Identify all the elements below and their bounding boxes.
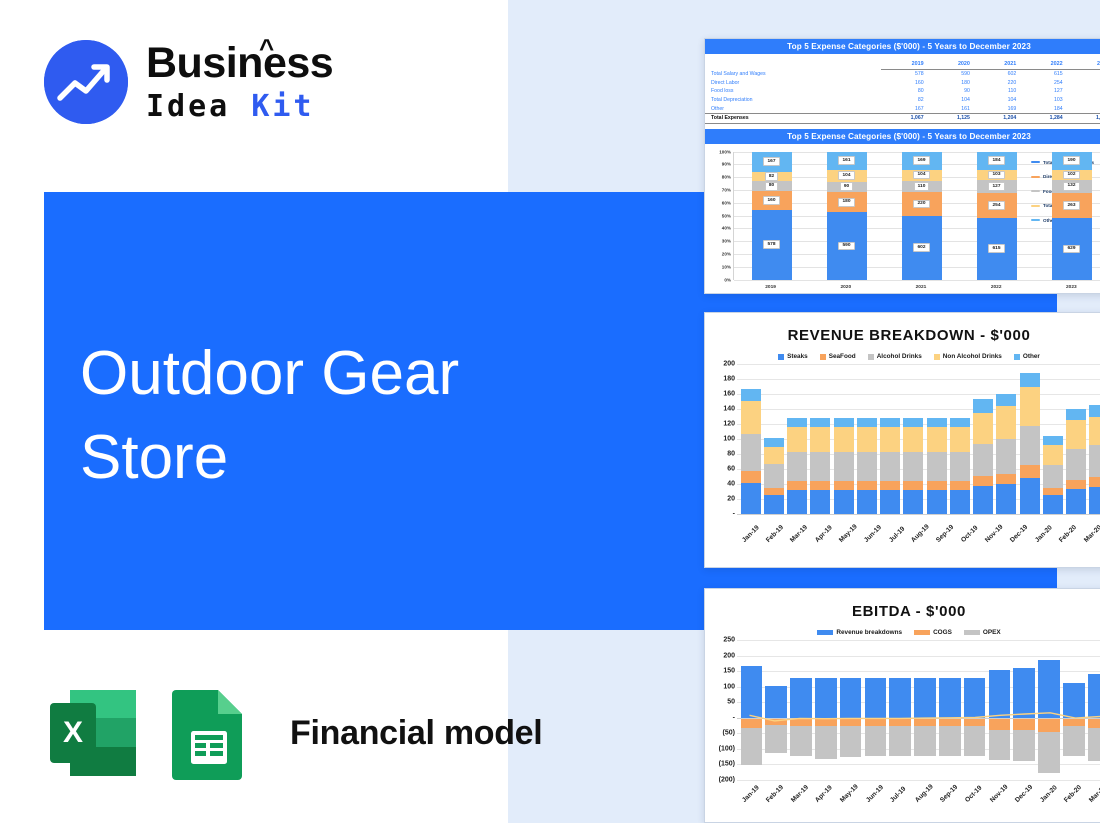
row-label: Total Depreciation	[705, 96, 881, 105]
x-tick: Jun-19	[863, 524, 883, 544]
y-tick: 50%	[722, 213, 731, 218]
chart-plot-area	[737, 364, 1100, 514]
y-tick: 50	[727, 699, 735, 706]
y-tick: 20	[727, 496, 735, 503]
ebitda-chart-plot: 25020015010050-(50)(100)(150)(200)	[705, 640, 1100, 780]
bar-segment	[880, 418, 900, 427]
table-total-row: Total Expenses 1,067 1,125 1,204 1,284 1…	[705, 113, 1100, 123]
x-tick: 2023	[1066, 285, 1077, 290]
bar-segment	[950, 418, 970, 427]
bar-segment	[996, 439, 1016, 474]
bar-segment	[787, 490, 807, 514]
bar-column	[973, 364, 993, 514]
table-row: Total Salary and Wages 578 590 602 615 6…	[705, 70, 1100, 79]
bar-segment	[1043, 465, 1063, 488]
cell: 161	[928, 104, 974, 113]
y-tick: 100	[723, 683, 735, 690]
svg-text:X: X	[63, 716, 83, 749]
ebitda-chart-title: EBITDA - $'000	[705, 603, 1100, 620]
chart-x-axis: 20192020202120222023	[733, 285, 1100, 290]
chart-y-axis: 25020015010050-(50)(100)(150)(200)	[711, 640, 737, 780]
bar-segment	[903, 418, 923, 427]
bar-segment: 103	[977, 170, 1017, 180]
bar-segment	[1020, 426, 1040, 466]
bar-segment	[973, 399, 993, 413]
legend-item: Other	[1014, 353, 1040, 360]
bar-segment	[950, 427, 970, 452]
y-tick: 60	[727, 466, 735, 473]
row-label: Direct Labor	[705, 79, 881, 88]
cell: 82	[881, 96, 927, 105]
logo-wordmark-primary: Business ^	[146, 42, 333, 85]
data-label: 263	[1063, 201, 1079, 210]
x-tick: Apr-19	[814, 784, 834, 804]
bar-segment	[764, 495, 784, 514]
y-tick: 40%	[722, 226, 731, 231]
cell: 102	[1067, 96, 1100, 105]
col-header-2021: 2021	[974, 60, 1020, 70]
data-label: 82	[765, 172, 778, 181]
bar-segment: 90	[827, 182, 867, 192]
footer-label: Financial model	[290, 714, 542, 753]
expense-chart-title: Top 5 Expense Categories ($'000) - 5 Yea…	[705, 129, 1100, 144]
bar-segment	[1066, 420, 1086, 449]
bar-segment: 132	[1052, 180, 1092, 193]
y-tick: 120	[723, 421, 735, 428]
cell: 127	[1020, 87, 1066, 96]
y-tick: 140	[723, 406, 735, 413]
cell: 1,204	[974, 113, 1020, 123]
bar-segment	[764, 438, 784, 446]
x-tick: Dec-19	[1014, 784, 1034, 804]
y-tick: 200	[723, 361, 735, 368]
bar-segment	[973, 476, 993, 486]
bar-segment: 160	[752, 191, 792, 210]
bar-segment	[857, 481, 877, 490]
revenue-chart-title: REVENUE BREAKDOWN - $'000	[705, 327, 1100, 344]
stacked-bar: 169104110220602	[902, 152, 942, 280]
data-label: 104	[838, 171, 854, 180]
y-tick: (150)	[719, 761, 735, 768]
bar-segment: 629	[1052, 218, 1092, 279]
y-tick: 40	[727, 481, 735, 488]
bar-segment	[787, 481, 807, 490]
bar-segment	[764, 447, 784, 464]
bar-segment	[741, 401, 761, 434]
cell: 615	[1020, 70, 1066, 79]
data-label: 103	[988, 171, 1004, 180]
x-tick: Mar-20	[1083, 524, 1100, 544]
logo-word-kit: Kit	[251, 89, 314, 124]
bar-column	[1066, 364, 1086, 514]
x-tick: Mar-20	[1088, 784, 1100, 804]
bar-column	[1089, 364, 1100, 514]
bar-segment	[950, 481, 970, 490]
row-label: Food loss	[705, 87, 881, 96]
bar-segment: 80	[752, 181, 792, 191]
bar-segment	[880, 427, 900, 452]
data-label: 80	[765, 182, 778, 191]
expense-table-title: Top 5 Expense Categories ($'000) - 5 Yea…	[705, 39, 1100, 54]
bar-segment	[996, 484, 1016, 514]
cell: 160	[881, 79, 927, 88]
bar-segment	[1043, 488, 1063, 495]
bar-segment	[810, 427, 830, 452]
data-label: 127	[988, 182, 1004, 191]
bar-segment	[1089, 487, 1100, 514]
bar-segment: 161	[827, 152, 867, 170]
y-tick: 250	[723, 637, 735, 644]
bar-column	[741, 364, 761, 514]
y-tick: (200)	[719, 777, 735, 784]
bar-segment	[834, 490, 854, 514]
bar-segment	[741, 389, 761, 401]
bar-segment	[764, 488, 784, 496]
bar-segment: 184	[977, 152, 1017, 170]
bar-segment	[857, 452, 877, 481]
legend-item: Revenue breakdowns	[817, 629, 902, 636]
bar-segment	[787, 427, 807, 452]
bar-segment: 602	[902, 216, 942, 280]
bar-segment	[834, 418, 854, 427]
x-tick: Feb-19	[765, 524, 785, 544]
bar-segment	[787, 452, 807, 481]
cell: 1,284	[1020, 113, 1066, 123]
bars-container	[737, 364, 1100, 514]
y-tick: 90%	[722, 162, 731, 167]
legend-item: OPEX	[964, 629, 1001, 636]
bar-segment	[741, 434, 761, 471]
data-label: 104	[913, 171, 929, 180]
data-label: 578	[763, 240, 779, 249]
page-title: Outdoor Gear Store	[80, 332, 550, 499]
data-label: 254	[988, 201, 1004, 210]
bar-segment: 127	[977, 180, 1017, 193]
bar-segment	[1020, 465, 1040, 478]
bar-column	[996, 364, 1016, 514]
bar-column	[1020, 364, 1040, 514]
cell: 629	[1067, 70, 1100, 79]
bar-segment: 167	[752, 152, 792, 172]
table-row: Food loss 80 90 110 127 132	[705, 87, 1100, 96]
legend-item: COGS	[914, 629, 952, 636]
bar-segment	[973, 444, 993, 476]
cell: 220	[974, 79, 1020, 88]
bar-segment: 82	[752, 172, 792, 182]
bar-segment	[927, 418, 947, 427]
bar-segment: 615	[977, 218, 1017, 279]
bar-segment	[1020, 387, 1040, 426]
data-label: 180	[838, 198, 854, 207]
bar-segment	[927, 490, 947, 514]
x-tick: Feb-19	[765, 784, 785, 804]
bar-segment: 263	[1052, 193, 1092, 219]
y-tick: 180	[723, 376, 735, 383]
y-tick: 0%	[724, 277, 731, 282]
bar-segment	[741, 483, 761, 515]
y-tick: (50)	[723, 730, 735, 737]
logo-word-business: Business	[146, 39, 333, 87]
expense-100pct-stacked-chart: 100%90%80%70%60%50%40%30%20%10%0% 167828…	[705, 144, 1100, 294]
x-tick: Nov-19	[984, 523, 1005, 544]
bar-segment	[1066, 449, 1086, 480]
table-row: Direct Labor 160 180 220 254 263	[705, 79, 1100, 88]
bar-column	[1043, 364, 1063, 514]
bar-segment	[1043, 436, 1063, 445]
data-label: 615	[988, 244, 1004, 253]
brand-logo: Business ^ Idea Kit	[44, 40, 333, 124]
stacked-bar: 190102132263629	[1052, 152, 1092, 280]
bar-segment	[1089, 445, 1100, 477]
ebitda-chart-legend: Revenue breakdownsCOGSOPEX	[705, 629, 1100, 636]
bar-segment	[834, 427, 854, 452]
bar-segment	[880, 490, 900, 514]
bar-segment	[741, 471, 761, 483]
bar-segment: 169	[902, 152, 942, 170]
cell: 590	[928, 70, 974, 79]
data-label: 90	[840, 182, 853, 191]
bar-column	[950, 364, 970, 514]
bar-segment	[1089, 477, 1100, 487]
bar-segment: 590	[827, 212, 867, 279]
x-tick: May-19	[838, 523, 859, 544]
bar-segment	[1020, 373, 1040, 387]
x-tick: Jan-20	[1039, 784, 1059, 804]
col-header-2022: 2022	[1020, 60, 1066, 70]
y-tick: -	[733, 511, 735, 518]
stacked-bar: 184103127254615	[977, 152, 1017, 280]
x-tick: 2019	[765, 285, 776, 290]
bar-segment	[996, 394, 1016, 406]
data-label: 167	[763, 157, 779, 166]
bar-segment	[996, 406, 1016, 439]
bar-segment: 102	[1052, 170, 1092, 180]
table-row: Total Depreciation 82 104 104 103 102	[705, 96, 1100, 105]
bar-segment	[880, 452, 900, 481]
gridline	[737, 780, 1100, 781]
bar-segment	[1066, 409, 1086, 420]
y-tick: 100%	[719, 149, 731, 154]
x-tick: Mar-19	[790, 784, 810, 804]
bar-column	[857, 364, 877, 514]
x-tick: Apr-19	[814, 524, 834, 544]
bar-segment	[1066, 480, 1086, 490]
bar-segment	[927, 452, 947, 481]
cell: 90	[928, 87, 974, 96]
bar-segment: 254	[977, 193, 1017, 218]
data-label: 160	[763, 196, 779, 205]
data-label: 102	[1063, 171, 1079, 180]
x-tick: Aug-19	[914, 783, 935, 804]
x-tick: Sep-19	[939, 784, 959, 804]
bar-column	[810, 364, 830, 514]
data-label: 132	[1063, 182, 1079, 191]
x-tick: Aug-19	[910, 523, 931, 544]
stacked-bar: 1678280160578	[752, 152, 792, 280]
chart-y-axis: 20018016014012010080604020-	[711, 364, 737, 514]
cell: 103	[1020, 96, 1066, 105]
data-label: 169	[913, 156, 929, 165]
y-tick: 150	[723, 668, 735, 675]
x-tick: Jan-19	[741, 524, 761, 544]
y-tick: 70%	[722, 187, 731, 192]
legend-item: SeaFood	[820, 353, 856, 360]
trend-arrow-chart-icon	[44, 40, 128, 124]
microsoft-excel-icon: X	[44, 684, 142, 782]
bar-segment	[903, 490, 923, 514]
data-label: 220	[913, 200, 929, 209]
legend-item: Non Alcohol Drinks	[934, 353, 1002, 360]
chart-plot-area	[737, 640, 1100, 780]
data-label: 190	[1063, 156, 1079, 165]
bar-segment	[810, 481, 830, 490]
bar-segment	[903, 481, 923, 490]
bar-column	[927, 364, 947, 514]
bar-segment	[1089, 405, 1100, 416]
bar-segment	[927, 481, 947, 490]
google-sheets-icon	[160, 684, 258, 782]
bar-segment	[950, 452, 970, 481]
x-tick: Nov-19	[989, 783, 1010, 804]
bar-segment: 104	[827, 170, 867, 182]
cell: 1,067	[881, 113, 927, 123]
x-tick: Feb-20	[1058, 524, 1078, 544]
x-tick: Oct-19	[960, 524, 979, 543]
bar-segment: 578	[752, 210, 792, 279]
bar-segment	[996, 474, 1016, 485]
bar-segment	[1020, 478, 1040, 514]
bar-segment	[1043, 495, 1063, 515]
cell: 104	[974, 96, 1020, 105]
bar-column	[903, 364, 923, 514]
stacked-bar: 16110490180590	[827, 152, 867, 280]
x-tick: Sep-19	[935, 524, 955, 544]
data-label: 161	[838, 156, 854, 165]
bar-segment	[1089, 417, 1100, 446]
cell: 104	[928, 96, 974, 105]
cell: 602	[974, 70, 1020, 79]
chart-x-axis: Jan-19Feb-19Mar-19Apr-19May-19Jun-19Jul-…	[737, 539, 1100, 546]
table-row: Other 167 161 169 184 190	[705, 104, 1100, 113]
bar-segment	[973, 486, 993, 515]
x-tick: Dec-19	[1009, 524, 1029, 544]
bar-segment	[950, 490, 970, 514]
slide-preview-expenses[interactable]: Top 5 Expense Categories ($'000) - 5 Yea…	[704, 38, 1100, 294]
bar-segment	[764, 464, 784, 488]
cell: 1,125	[928, 113, 974, 123]
cell: 169	[974, 104, 1020, 113]
expense-table: 2019 2020 2021 2022 2023 Total Salary an…	[705, 60, 1100, 124]
x-tick: Oct-19	[964, 784, 984, 804]
slide-preview-revenue[interactable]: REVENUE BREAKDOWN - $'000 SteaksSeaFoodA…	[704, 312, 1100, 568]
bar-segment	[857, 427, 877, 452]
y-tick: 30%	[722, 239, 731, 244]
y-tick: 10%	[722, 264, 731, 269]
bar-segment	[903, 427, 923, 452]
footer-formats: X Financial model	[44, 684, 542, 782]
bar-segment	[927, 427, 947, 452]
logo-circumflex-accent: ^	[259, 35, 274, 61]
x-tick: Mar-19	[789, 524, 809, 544]
row-label: Total Salary and Wages	[705, 70, 881, 79]
bar-segment	[810, 490, 830, 514]
bar-segment	[857, 490, 877, 514]
cell: 132	[1067, 87, 1100, 96]
x-tick: Jan-19	[741, 784, 761, 804]
bar-segment: 190	[1052, 152, 1092, 170]
bar-segment	[1066, 489, 1086, 514]
y-tick: 200	[723, 652, 735, 659]
bar-segment	[903, 452, 923, 481]
bar-column	[880, 364, 900, 514]
data-label: 184	[988, 156, 1004, 165]
y-tick: (100)	[719, 745, 735, 752]
data-label: 629	[1063, 245, 1079, 254]
x-tick: 2022	[991, 285, 1002, 290]
cell: 190	[1067, 104, 1100, 113]
x-tick: Jul-19	[889, 784, 909, 804]
bar-segment	[857, 418, 877, 427]
y-tick: 60%	[722, 200, 731, 205]
cell: 110	[974, 87, 1020, 96]
bar-segment	[880, 481, 900, 490]
x-tick: May-19	[839, 783, 860, 804]
cell: 80	[881, 87, 927, 96]
legend-item: Steaks	[778, 353, 808, 360]
bar-segment: 220	[902, 192, 942, 215]
cell: 180	[928, 79, 974, 88]
bar-segment	[810, 452, 830, 481]
bar-segment: 104	[902, 170, 942, 181]
slide-preview-ebitda[interactable]: EBITDA - $'000 Revenue breakdownsCOGSOPE…	[704, 588, 1100, 823]
bar-segment	[834, 452, 854, 481]
zero-axis-line	[737, 514, 1100, 515]
x-tick: Jun-19	[865, 784, 885, 804]
cell: 254	[1020, 79, 1066, 88]
bar-segment	[973, 413, 993, 445]
bar-segment: 110	[902, 181, 942, 193]
x-tick: 2020	[840, 285, 851, 290]
legend-item: Alcohol Drinks	[868, 353, 922, 360]
bar-segment	[787, 418, 807, 427]
y-tick: 80%	[722, 175, 731, 180]
ebitda-trend-line	[737, 640, 1100, 780]
x-tick: Jan-20	[1034, 524, 1054, 544]
col-header-2020: 2020	[928, 60, 974, 70]
col-header-2023: 2023	[1067, 60, 1100, 70]
bar-column	[787, 364, 807, 514]
data-label: 602	[913, 243, 929, 252]
bar-segment: 180	[827, 192, 867, 212]
col-header-2019: 2019	[881, 60, 927, 70]
x-tick: Jul-19	[888, 526, 906, 544]
table-header-row: 2019 2020 2021 2022 2023	[705, 60, 1100, 70]
cell: 1,316	[1067, 113, 1100, 123]
y-tick: -	[733, 714, 735, 721]
cell: 578	[881, 70, 927, 79]
chart-y-axis: 100%90%80%70%60%50%40%30%20%10%0%	[709, 152, 733, 280]
logo-word-idea: Idea	[146, 89, 230, 124]
y-tick: 100	[723, 436, 735, 443]
chart-x-axis: Jan-19Feb-19Mar-19Apr-19May-19Jun-19Jul-…	[737, 799, 1100, 806]
logo-wordmark-secondary: Idea Kit	[146, 92, 333, 122]
row-label: Total Expenses	[705, 113, 881, 123]
bar-segment	[810, 418, 830, 427]
y-tick: 160	[723, 391, 735, 398]
col-header-0	[705, 60, 881, 70]
x-tick: 2021	[916, 285, 927, 290]
bar-segment	[834, 481, 854, 490]
